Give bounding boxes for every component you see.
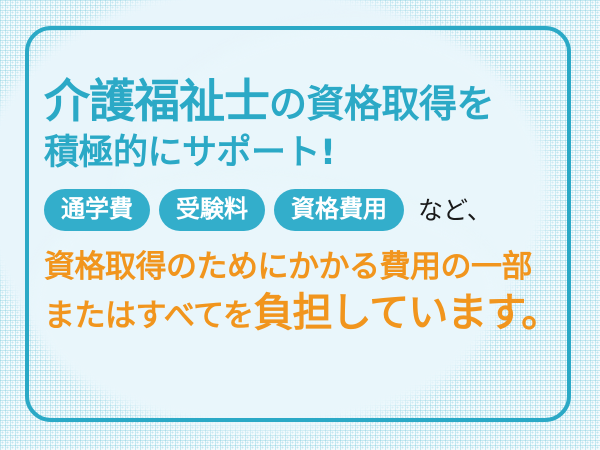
banner-content: 介護福祉士の資格取得を 積極的にサポート! 通学費 受験料 資格費用 など、 資… [44,78,564,336]
badge-exam-fee: 受験料 [159,189,265,231]
subline: 積極的にサポート! [44,136,564,171]
badge-tuition-fee: 通学費 [44,189,150,231]
support-line-1: 資格取得のためにかかる費用の一部 [44,250,564,285]
headline: 介護福祉士の資格取得を [44,78,564,124]
headline-emphasis: 介護福祉士 [44,74,269,128]
badge-suffix-text: など、 [418,198,492,223]
promo-banner: 介護福祉士の資格取得を 積極的にサポート! 通学費 受験料 資格費用 など、 資… [0,0,600,450]
support-description: 資格取得のためにかかる費用の一部 またはすべてを負担しています。 [44,250,564,336]
cost-badge-row: 通学費 受験料 資格費用 など、 [44,189,564,231]
badge-qualification-fee: 資格費用 [274,189,404,231]
support-line-2: またはすべてを負担しています。 [44,291,564,336]
support-line-2-emphasis: 負担しています。 [253,290,560,336]
headline-rest: の資格取得を [269,82,494,126]
support-line-2-lead: またはすべてを [44,298,253,334]
